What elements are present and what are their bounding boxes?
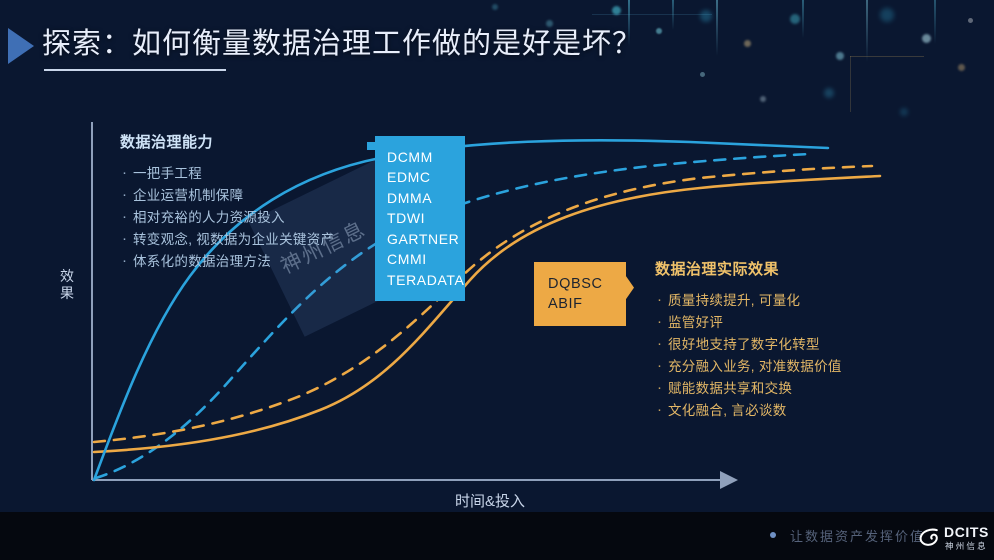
list-item: 转变观念, 视数据为企业关键资产 (120, 229, 334, 251)
list-item: 企业运营机制保障 (120, 185, 334, 207)
list-item: 相对充裕的人力资源投入 (120, 207, 334, 229)
title-underline (44, 69, 226, 71)
capability-heading: 数据治理能力 (120, 131, 334, 152)
metrics-callout-body: DQBSC ABIF (534, 262, 634, 326)
callout-line: TERADATA (387, 270, 465, 291)
callout-line: EDMC (387, 167, 465, 188)
footer-tagline: 让数据资产发挥价值 (790, 526, 925, 545)
callout-line: DQBSC (548, 274, 634, 294)
list-item: 赋能数据共享和交换 (655, 378, 842, 400)
effect-heading: 数据治理实际效果 (655, 258, 842, 279)
standards-callout: DCMM EDMC DMMA TDWI GARTNER CMMI TERADAT… (367, 136, 465, 301)
dot-icon (770, 532, 776, 538)
metrics-callout: DQBSC ABIF (534, 262, 634, 326)
list-item: 文化融合, 言必谈数 (655, 400, 842, 422)
list-item: 一把手工程 (120, 163, 334, 185)
triangle-right-icon (8, 28, 34, 64)
x-axis-label: 时间&投入 (455, 490, 525, 511)
capability-block: 数据治理能力 一把手工程 企业运营机制保障 相对充裕的人力资源投入 转变观念, … (120, 131, 334, 273)
y-axis-label: 效果 (56, 268, 78, 302)
callout-line: DMMA (387, 188, 465, 209)
logo-subtext: 神州信息 (945, 540, 988, 552)
logo-wordmark: DCITS (944, 524, 989, 540)
swirl-logo-icon (918, 526, 940, 548)
callout-line: TDWI (387, 208, 465, 229)
callout-line: CMMI (387, 249, 465, 270)
callout-line: GARTNER (387, 229, 465, 250)
slide-canvas: 探索：如何衡量数据治理工作做的是好是坏？ 效果 (0, 0, 994, 560)
slide-title-bar: 探索：如何衡量数据治理工作做的是好是坏？ (0, 12, 994, 72)
page-title: 探索：如何衡量数据治理工作做的是好是坏？ (42, 20, 642, 62)
list-item: 体系化的数据治理方法 (120, 251, 334, 273)
list-item: 充分融入业务, 对准数据价值 (655, 356, 842, 378)
effect-block: 数据治理实际效果 质量持续提升, 可量化 监管好评 很好地支持了数字化转型 充分… (655, 258, 842, 422)
callout-line: ABIF (548, 294, 634, 314)
list-item: 很好地支持了数字化转型 (655, 334, 842, 356)
slide-footer: 让数据资产发挥价值 DCITS 神州信息 (0, 512, 994, 560)
standards-callout-body: DCMM EDMC DMMA TDWI GARTNER CMMI TERADAT… (367, 136, 465, 301)
list-item: 质量持续提升, 可量化 (655, 290, 842, 312)
list-item: 监管好评 (655, 312, 842, 334)
callout-line: DCMM (387, 147, 465, 168)
effect-list: 质量持续提升, 可量化 监管好评 很好地支持了数字化转型 充分融入业务, 对准数… (655, 290, 842, 422)
capability-list: 一把手工程 企业运营机制保障 相对充裕的人力资源投入 转变观念, 视数据为企业关… (120, 163, 334, 273)
company-logo: DCITS 神州信息 (918, 524, 988, 552)
